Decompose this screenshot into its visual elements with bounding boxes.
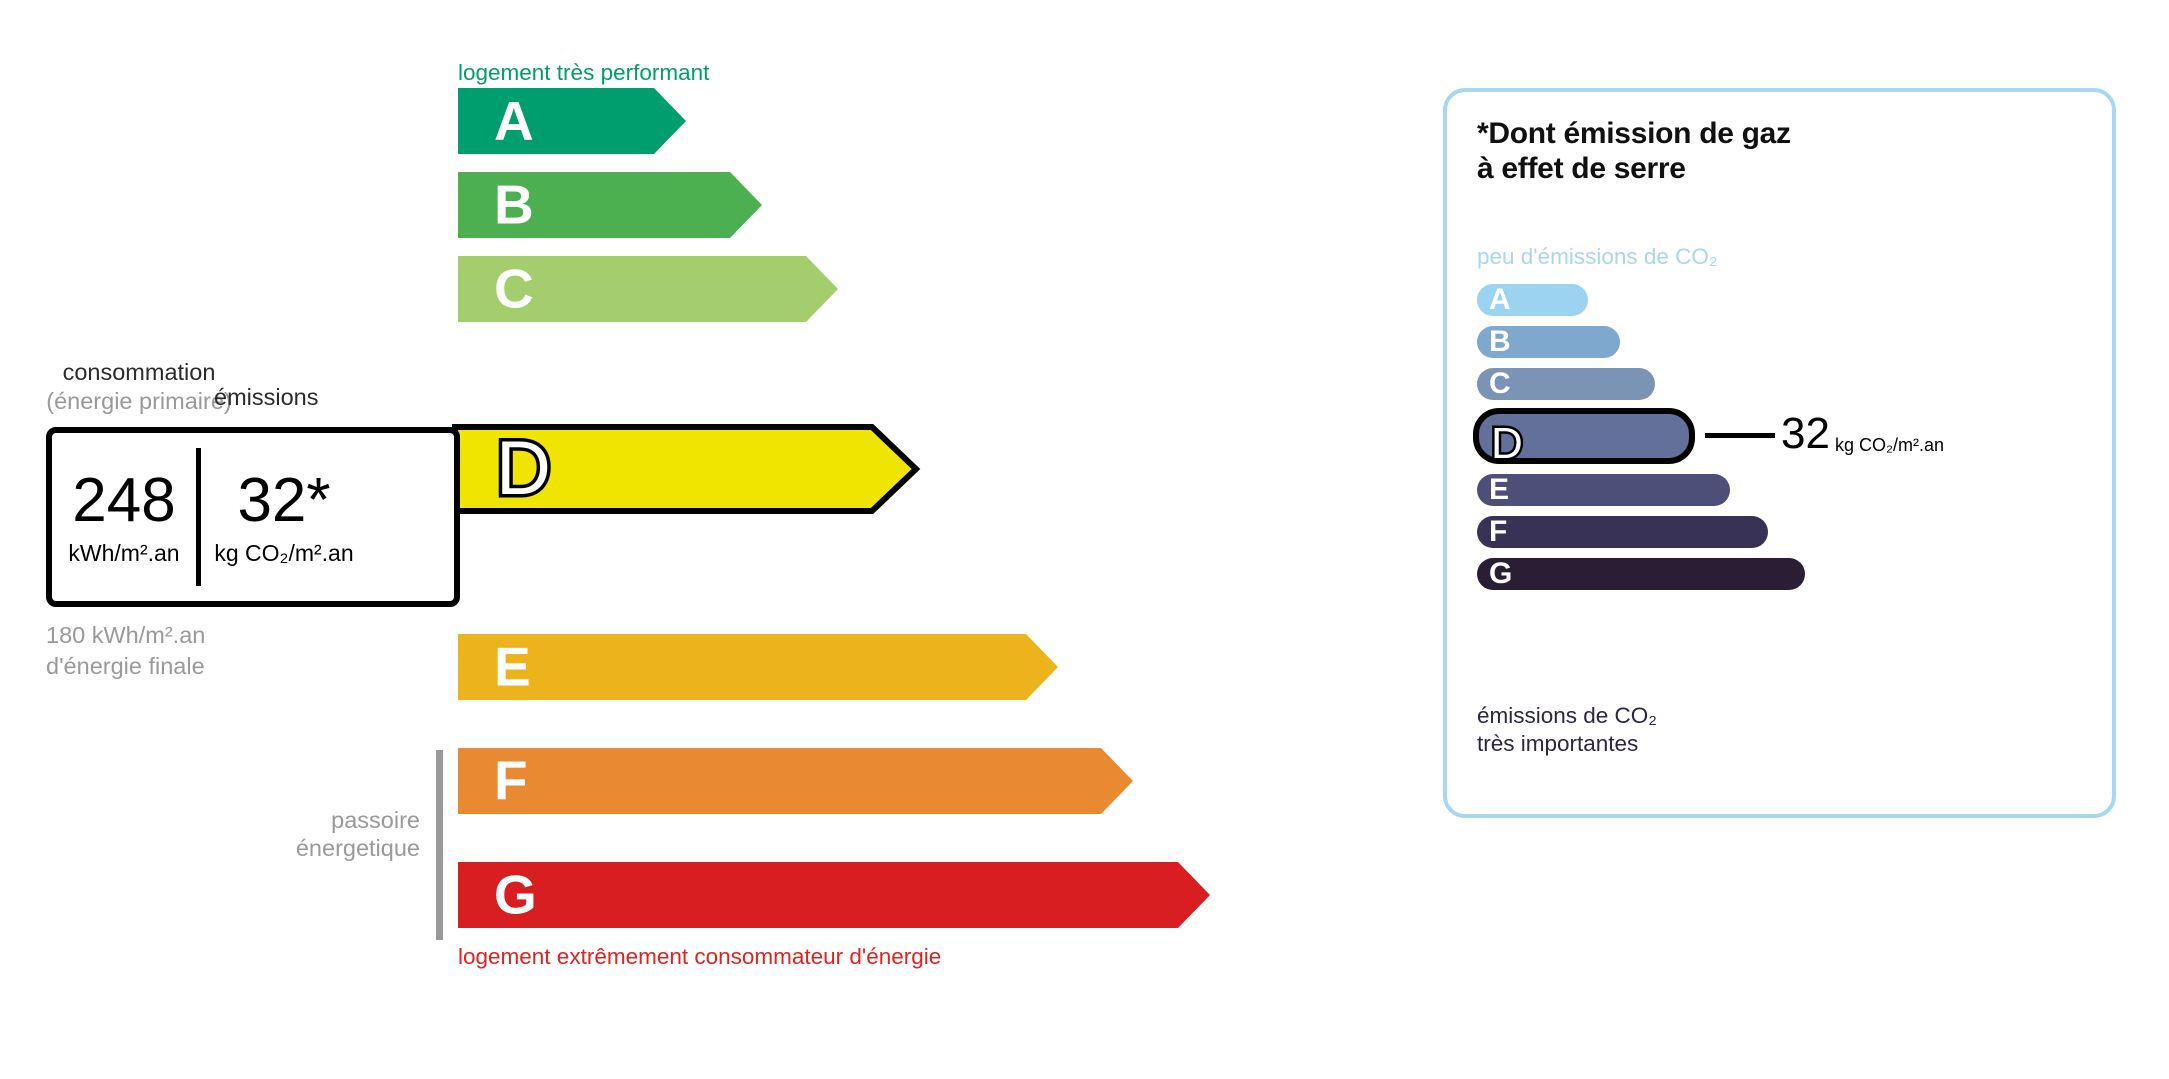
passoire-label: passoire énergetique [180,806,420,862]
consumption-unit: kWh/m².an [52,542,196,565]
co2-title-line2: à effet de serre [1477,151,1791,186]
energy-band-f-shape [458,748,1133,814]
energy-bottom-caption: logement extrêmement consommateur d'éner… [458,944,941,970]
passoire-marker-bar [436,750,443,940]
co2-bottom-caption-line1: émissions de CO₂ [1477,702,1657,730]
energy-band-g-letter: G [494,868,537,923]
co2-panel-title: *Dont émission de gaz à effet de serre [1477,116,1791,187]
energy-band-b-letter: B [494,178,534,233]
emissions-label: émissions [214,383,318,412]
co2-bar-g-letter: G [1489,559,1512,589]
energy-band-e-letter: E [494,640,531,695]
energy-top-caption: logement très performant [458,60,709,86]
co2-bar-d-letter: D [1491,422,1523,466]
emissions-value-group: 32* kg CO₂/m².an [201,470,367,565]
energy-band-d-letter: D [496,431,551,507]
energy-band-g-shape [458,862,1210,928]
energy-band-e: E [458,634,1058,700]
final-energy-line1: 180 kWh/m².an [46,620,205,651]
co2-bar-c-letter: C [1489,369,1511,399]
co2-bar-f-letter: F [1489,517,1507,547]
emissions-unit: kg CO₂/m².an [201,542,367,565]
co2-bar-f: F [1477,516,1768,548]
co2-bottom-caption-line2: très importantes [1477,730,1657,758]
final-energy-line2: d'énergie finale [46,651,205,682]
co2-emissions-panel: *Dont émission de gaz à effet de serre p… [1443,88,2116,818]
energy-band-f-letter: F [494,754,528,809]
dpe-diagram: logement très performant A B C [0,0,2169,1079]
co2-bar-b-letter: B [1489,327,1511,357]
co2-bar-a-letter: A [1489,285,1511,315]
consumption-value-group: 248 kWh/m².an [52,470,196,565]
energy-band-a: A [458,88,686,154]
consumption-value: 248 [52,470,196,532]
co2-bar-a: A [1477,284,1588,316]
consumption-label-sub: (énergie primaire) [46,387,232,416]
co2-leader-line [1705,433,1775,438]
energy-performance-scale: logement très performant A B C [0,0,1380,1079]
energy-band-c-letter: C [494,262,534,317]
co2-title-line1: *Dont émission de gaz [1477,116,1791,151]
emissions-value: 32* [201,470,367,532]
co2-bar-c: C [1477,368,1655,400]
consumption-label-main: consommation [46,358,232,387]
co2-bar-e: E [1477,474,1730,506]
co2-bar-g: G [1477,558,1805,590]
co2-bar-b: B [1477,326,1620,358]
energy-band-b: B [458,172,762,238]
passoire-label-line2: énergetique [180,834,420,862]
energy-band-e-shape [458,634,1058,700]
energy-band-a-letter: A [494,94,534,149]
co2-value-unit: kg CO₂/m².an [1835,436,1944,454]
co2-value: 32 [1781,412,1830,456]
energy-band-c: C [458,256,838,322]
energy-band-a-shape [458,88,686,154]
co2-top-caption: peu d'émissions de CO₂ [1477,244,1718,270]
co2-bar-e-letter: E [1489,475,1509,505]
energy-band-d-current: D [452,424,919,514]
final-energy-label: 180 kWh/m².an d'énergie finale [46,620,205,682]
passoire-label-line1: passoire [180,806,420,834]
energy-band-g: G [458,862,1210,928]
energy-band-f: F [458,748,1133,814]
consumption-label: consommation (énergie primaire) [46,358,232,415]
co2-bottom-caption: émissions de CO₂ très importantes [1477,702,1657,759]
